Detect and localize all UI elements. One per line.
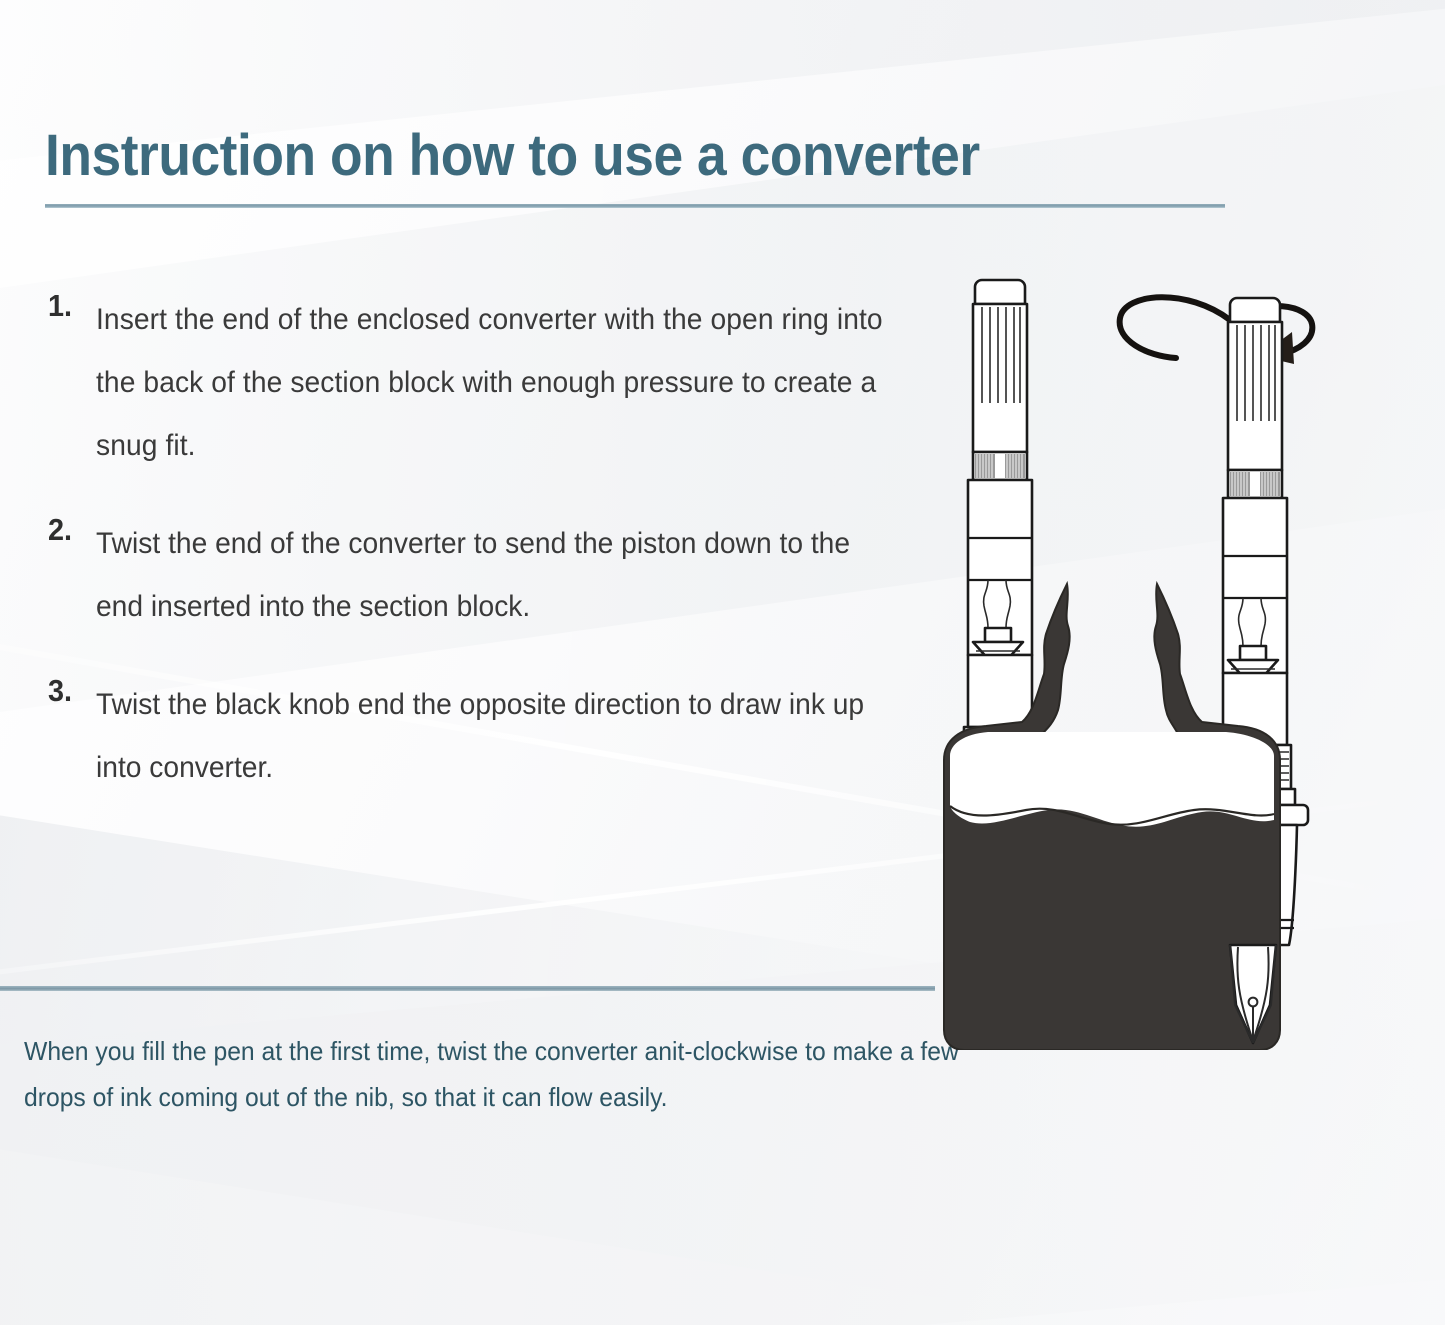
step-number: 1.	[48, 288, 72, 324]
step-text: Twist the black knob end the opposite di…	[96, 673, 902, 799]
piston-head	[985, 628, 1011, 642]
footer-divider	[0, 986, 935, 991]
converter-lower-tube	[968, 655, 1032, 727]
list-item: 2. Twist the end of the converter to sen…	[48, 512, 953, 638]
twist-rotation-arrow	[1120, 297, 1313, 364]
converter-knob-cap	[1230, 298, 1280, 322]
converter-knob-cap	[975, 280, 1025, 304]
step-number: 3.	[48, 673, 72, 709]
list-item: 3. Twist the black knob end the opposite…	[48, 673, 953, 799]
step-text: Twist the end of the converter to send t…	[96, 512, 902, 638]
list-item: 1. Insert the end of the enclosed conver…	[48, 288, 953, 477]
instruction-step-list: 1. Insert the end of the enclosed conver…	[48, 288, 953, 832]
bottle-airspace	[950, 732, 1274, 827]
pen-diagram: .ol{fill:#ffffff;stroke:#1a1a1a;stroke-w…	[930, 260, 1445, 1050]
piston-head	[1240, 646, 1266, 660]
title-divider	[45, 204, 1225, 208]
converter-knob-barrel	[1228, 322, 1282, 470]
step-text: Insert the end of the enclosed converter…	[96, 288, 902, 477]
instruction-page: Instruction on how to use a converter 1.…	[0, 0, 1445, 1325]
converter-knob-barrel	[973, 304, 1027, 452]
page-title: Instruction on how to use a converter	[45, 124, 980, 188]
step-number: 2.	[48, 512, 72, 548]
footer-note: When you fill the pen at the first time,…	[24, 1028, 974, 1120]
